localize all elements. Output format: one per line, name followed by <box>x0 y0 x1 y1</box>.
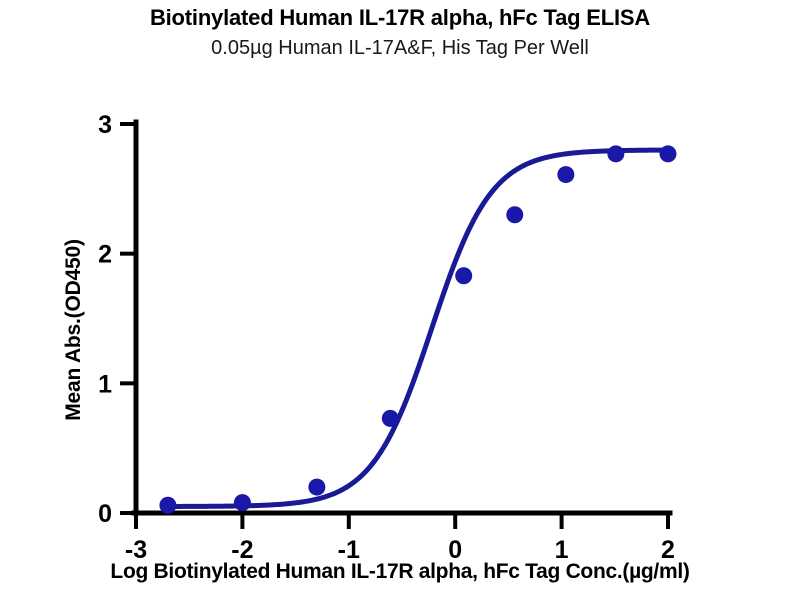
data-point <box>455 267 472 284</box>
data-point <box>234 494 251 511</box>
elisa-chart-figure: Biotinylated Human IL-17R alpha, hFc Tag… <box>0 0 800 600</box>
x-tick-label: 2 <box>661 536 675 564</box>
data-point <box>159 497 176 514</box>
y-tick-label: 1 <box>98 370 112 398</box>
x-tick-label: 0 <box>448 536 462 564</box>
plot-area: 0123 -3-2-1012 <box>0 0 800 600</box>
y-tick-labels: 0123 <box>98 111 112 528</box>
x-tick-labels: -3-2-1012 <box>125 536 675 564</box>
x-tick-label: -1 <box>338 536 360 564</box>
data-point <box>308 479 325 496</box>
data-point <box>382 410 399 427</box>
y-tick-label: 3 <box>98 111 112 139</box>
data-point <box>557 166 574 183</box>
y-tick-label: 2 <box>98 241 112 269</box>
y-tick-label: 0 <box>98 500 112 528</box>
data-point <box>660 145 677 162</box>
x-tick-label: -2 <box>231 536 253 564</box>
dose-response-curve <box>166 150 670 506</box>
data-point <box>506 206 523 223</box>
data-point-markers <box>159 145 676 513</box>
x-tick-label: -3 <box>125 536 147 564</box>
x-tick-label: 1 <box>555 536 569 564</box>
data-point <box>607 145 624 162</box>
